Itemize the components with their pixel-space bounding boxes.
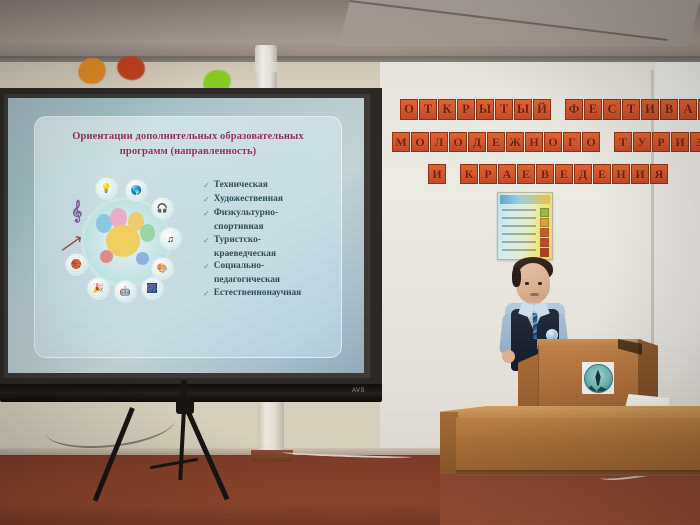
head	[516, 263, 550, 303]
bubble-icon-robot: 🤖	[114, 280, 137, 303]
check-icon: ✓	[203, 260, 210, 273]
mouth	[530, 293, 539, 296]
emblem-circle	[584, 364, 613, 393]
bubble-icon-headphones: 🎧	[151, 197, 174, 220]
emblem-bird-icon	[594, 370, 603, 386]
banner-line-2: МОЛОДЕЖНОГО ТУРИЗМА	[392, 132, 700, 152]
bullet-label-cont: спортивная	[214, 221, 343, 234]
desk-front-panel	[456, 418, 700, 476]
bullet-item: ✓ Физкультурно-	[203, 207, 343, 220]
bubble-icon-ball: 🏀	[65, 253, 88, 276]
bullet-item: ✓ Художественная	[203, 193, 343, 206]
cartoon-character	[106, 225, 140, 257]
bullet-item: ✓ Социально-	[203, 260, 343, 273]
slide-panel: Ориентации дополнительных образовательны…	[34, 116, 342, 358]
photo-scene: Ориентации дополнительных образовательны…	[0, 0, 700, 525]
check-icon: ✓	[203, 287, 210, 300]
desk	[440, 400, 700, 490]
bubble-icon-notes: ♫	[159, 227, 182, 250]
projected-slide: Ориентации дополнительных образовательны…	[8, 98, 364, 373]
eye-right	[538, 282, 542, 285]
bullet-label-cont: краеведческая	[214, 248, 343, 261]
banner-line-3: И КРАЕВЕДЕНИЯ	[428, 164, 668, 184]
slide-illustration: 𝄞 ⟶ 💡 🌎 🎧 ♫ 🎨 🏀 🎉 🤖 🎆	[59, 175, 187, 303]
screen-brand-label: AVS	[352, 388, 365, 394]
hair-side	[512, 267, 521, 287]
poster-header	[500, 195, 550, 204]
wall-poster	[497, 192, 553, 260]
projection-screen: Ориентации дополнительных образовательны…	[0, 88, 382, 408]
check-icon: ✓	[203, 179, 210, 192]
check-icon: ✓	[203, 234, 210, 247]
bullet-label-cont: педагогическая	[214, 274, 343, 287]
bubble-icon-top: 🎉	[87, 277, 110, 300]
bullet-label: Туристско-	[214, 234, 261, 247]
slide-title-line2: программ (направленность)	[47, 144, 329, 159]
bullet-item: ✓ Естественнонаучная	[203, 287, 343, 300]
check-icon: ✓	[203, 193, 210, 206]
slide-title: Ориентации дополнительных образовательны…	[47, 129, 329, 159]
desk-shadow	[456, 470, 700, 478]
bullet-item: ✓ Техническая	[203, 179, 343, 192]
check-icon: ✓	[203, 207, 210, 220]
bullet-label: Социально-	[214, 260, 264, 273]
bubble-icon-lamp: 💡	[95, 177, 118, 200]
bullet-item: ✓ Туристско-	[203, 234, 343, 247]
bullet-label: Физкультурно-	[214, 207, 278, 220]
hand	[502, 350, 515, 363]
slide-bullet-list: ✓ Техническая ✓ Художественная ✓ Физкуль…	[203, 179, 343, 301]
eye-left	[525, 282, 529, 285]
bullet-label: Художественная	[214, 193, 283, 206]
bullet-label: Естественнонаучная	[214, 287, 302, 300]
slide-title-line1: Ориентации дополнительных образовательны…	[47, 129, 329, 144]
banner-line-1: ОТКРЫТЫЙ ФЕСТИВАЛЬ	[400, 99, 700, 120]
bullet-label: Техническая	[214, 179, 268, 192]
music-note-icon: 𝄞	[71, 201, 82, 223]
pipe-cap	[251, 62, 281, 72]
podium-emblem	[582, 362, 614, 394]
bubble-icon-pyramid: 🎆	[141, 277, 164, 300]
bubble-icon-globe: 🌎	[125, 179, 148, 202]
